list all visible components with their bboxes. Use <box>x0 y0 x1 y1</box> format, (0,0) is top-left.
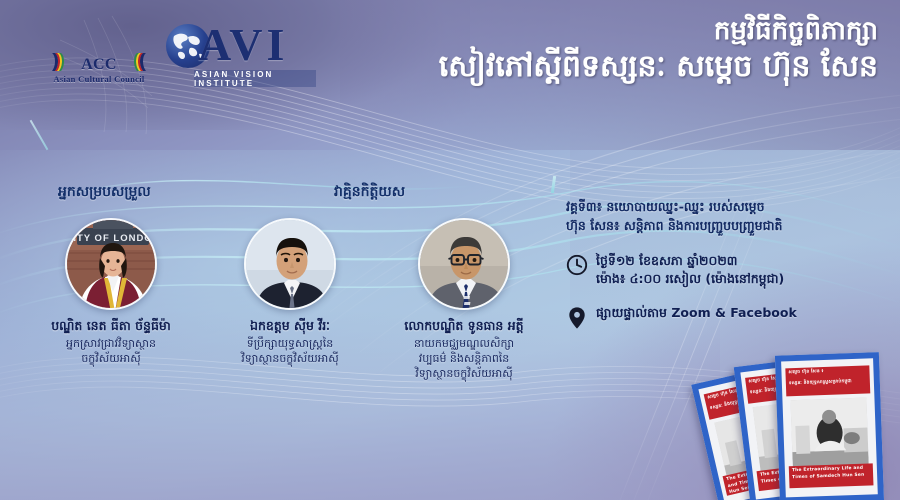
person-title-line-2: វិទ្យាស្ថានចក្ខុវិស័យអាស៊ី <box>241 352 338 365</box>
acc-abbreviation: ACC <box>46 56 152 74</box>
acc-full-name: Asian Cultural Council <box>46 74 152 84</box>
person-name: បណ្ឌិត នេត ធីតា ច័ន្ទធីម៉ា <box>0 318 222 334</box>
avatar <box>244 218 336 310</box>
person-title: នាយកមជ្ឈមណ្ឌលសិក្សា វប្បធម៌ និងសន្តិភាពន… <box>358 336 570 382</box>
person-title: អ្នកស្រាវជ្រាវវិទ្យាស្ថាន ចក្ខុវិស័យអាស៊… <box>0 336 222 366</box>
woman-in-graduation-robes-portrait: CITY OF LONDON <box>67 220 157 310</box>
person-name: លោកបណ្ឌិត ទូនធាន អត្តី <box>358 318 570 334</box>
book-title-line-2: ទស្សនៈ និងយុទ្ធសាស្ត្រសម្រាប់កម្ពុជា <box>786 376 870 390</box>
person-title-line-2: វប្បធម៌ និងសន្តិភាពនៃ <box>419 352 510 365</box>
moderator-heading: អ្នកសម្របសម្រួល <box>58 182 151 203</box>
avatar: CITY OF LONDON <box>65 218 157 310</box>
speakers-heading: វាគ្មិនកិត្តិយស <box>334 182 405 203</box>
person-title-line-1: ទីប្រឹក្សាយុទ្ធសាស្ត្រនៃ <box>247 337 333 350</box>
person-title-line-2: ចក្ខុវិស័យអាស៊ី <box>81 352 140 365</box>
session-topic: វគ្គទី៣៖ នយោបាយឈ្នះ-ឈ្នះ របស់សម្តេច ហ៊ុន… <box>566 198 892 236</box>
title-line-1: កម្មវិធីកិច្ចពិភាក្សា <box>238 16 878 47</box>
person-card-moderator: CITY OF LONDON បណ្ឌិត នេត ធីតា ច័ន្ទធីម៉… <box>0 218 222 366</box>
venue-row: ផ្សាយផ្ទាល់តាម Zoom & Facebook <box>566 304 892 330</box>
event-time: ម៉ោង៖ ៤:០០ រសៀល (ម៉ោងនៅកម្ពុជា) <box>596 270 784 288</box>
book-cover-front: សម្តេច ហ៊ុន សែន ៖ ទស្សនៈ និងយុទ្ធសាស្ត្រ… <box>775 352 884 500</box>
avatar <box>418 218 510 310</box>
book-footer-band: The Extraordinary Life and Times of Samd… <box>789 463 874 488</box>
event-info-panel: វគ្គទី៣៖ នយោបាយឈ្នះ-ឈ្នះ របស់សម្តេច ហ៊ុន… <box>566 198 892 330</box>
event-date: ថ្ងៃទី១២ ខែឧសភា ឆ្នាំ២០២៣ <box>596 253 737 268</box>
clock-icon <box>566 252 596 276</box>
poster-canvas: ACC Asian Cultural Council AVI ASIAN VIS… <box>0 0 900 500</box>
session-topic-line-1: វគ្គទី៣៖ នយោបាយឈ្នះ-ឈ្នះ របស់សម្តេច <box>566 199 765 214</box>
person-card-speaker-2: លោកបណ្ឌិត ទូនធាន អត្តី នាយកមជ្ឈមណ្ឌលសិក្… <box>358 218 570 381</box>
person-title-line-3: វិទ្យាស្ថានចក្ខុវិស័យអាស៊ី <box>415 367 512 380</box>
person-title-line-1: អ្នកស្រាវជ្រាវវិទ្យាស្ថាន <box>66 337 156 350</box>
location-pin-icon <box>566 304 596 330</box>
man-with-glasses-portrait <box>420 220 510 310</box>
poster-title: កម្មវិធីកិច្ចពិភាក្សា សៀវភៅស្តីពីទស្សនៈ … <box>238 16 878 84</box>
venue-text: ផ្សាយផ្ទាល់តាម Zoom & Facebook <box>596 304 797 322</box>
book-footer-text: The Extraordinary Life and Times of Samd… <box>789 463 874 483</box>
book-stack: សម្តេច ហ៊ុន សែន ៖ ទស្សនៈ និងយុទ្ធសាស្ត្រ… <box>718 332 898 500</box>
man-in-dark-suit-portrait <box>246 220 336 310</box>
session-topic-line-2: ហ៊ុន សែន៖ សន្តិភាព និងការបញ្ជ្រួបបញ្ជ្រួ… <box>566 218 782 233</box>
person-title-line-1: នាយកមជ្ឈមណ្ឌលសិក្សា <box>414 337 514 350</box>
book-title-band: សម្តេច ហ៊ុន សែន ៖ ទស្សនៈ និងយុទ្ធសាស្ត្រ… <box>785 365 870 396</box>
acc-logo: ACC Asian Cultural Council <box>46 34 152 90</box>
datetime-row: ថ្ងៃទី១២ ខែឧសភា ឆ្នាំ២០២៣ ម៉ោង៖ ៤:០០ រសៀ… <box>566 252 892 288</box>
title-line-2: សៀវភៅស្តីពីទស្សនៈ សម្តេច ហ៊ុន សែន <box>238 49 878 84</box>
datetime-text: ថ្ងៃទី១២ ខែឧសភា ឆ្នាំ២០២៣ ម៉ោង៖ ៤:០០ រសៀ… <box>596 252 784 288</box>
book-photo <box>790 398 869 475</box>
svg-text:CITY OF LONDON: CITY OF LONDON <box>67 233 157 244</box>
